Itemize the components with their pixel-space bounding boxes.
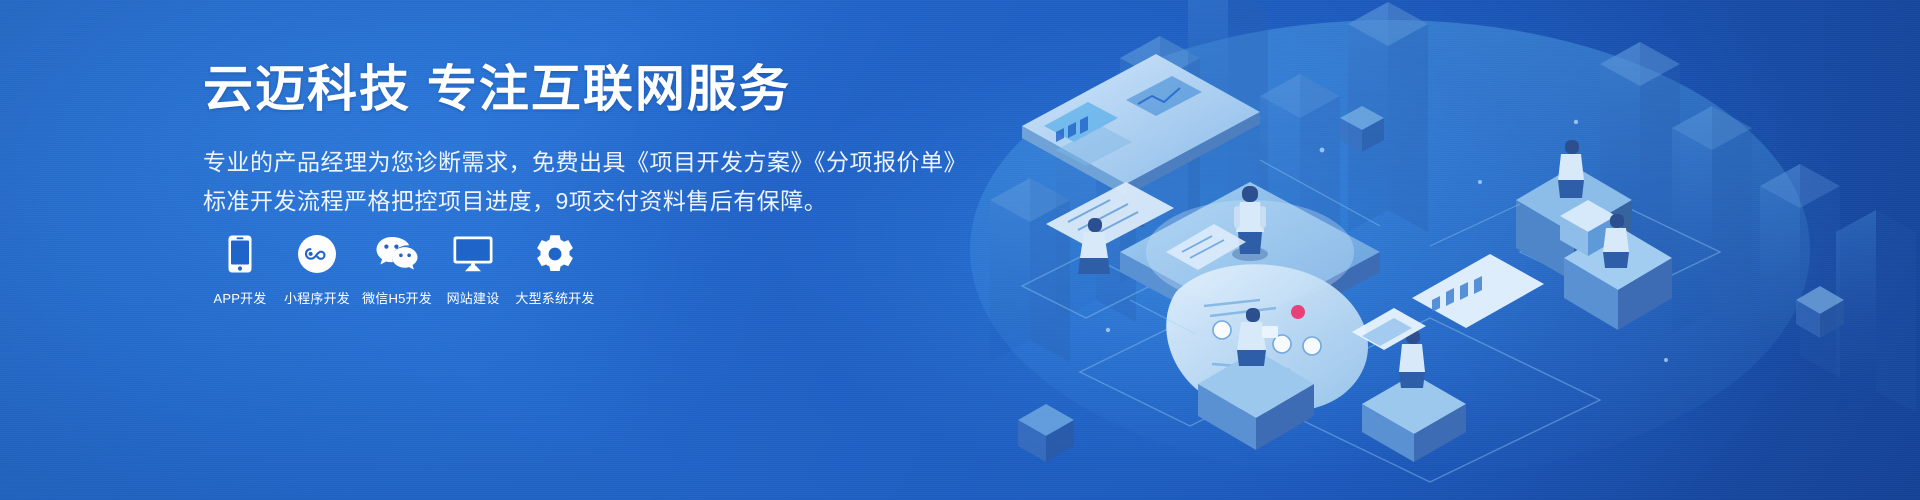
subtitle-line-1: 专业的产品经理为您诊断需求，免费出具《项目开发方案》《分项报价单》: [203, 145, 923, 180]
wechat-icon: [375, 232, 419, 276]
service-item-app[interactable]: APP开发: [203, 232, 277, 307]
service-label: 网站建设: [447, 288, 500, 307]
service-list: APP开发 小程序开发: [203, 232, 601, 307]
subtitle-line-2: 标准开发流程严格把控项目进度，9项交付资料售后有保障。: [203, 184, 923, 219]
monitor-icon: [453, 232, 493, 276]
gear-icon: [535, 232, 575, 276]
highlight-dot: [1291, 305, 1305, 319]
hero-banner: 云迈科技 专注互联网服务 专业的产品经理为您诊断需求，免费出具《项目开发方案》《…: [0, 0, 1920, 500]
service-item-website[interactable]: 网站建设: [437, 232, 509, 307]
service-label: 大型系统开发: [515, 288, 594, 307]
mini-program-icon: [298, 232, 336, 276]
service-label: 微信H5开发: [362, 288, 432, 307]
service-item-wechat-h5[interactable]: 微信H5开发: [357, 232, 437, 307]
service-label: APP开发: [213, 288, 266, 307]
service-item-large-system[interactable]: 大型系统开发: [509, 232, 601, 307]
service-label: 小程序开发: [284, 288, 350, 307]
isometric-data-platform-illustration: [960, 0, 1920, 500]
service-item-mini-program[interactable]: 小程序开发: [277, 232, 357, 307]
hero-copy: 云迈科技 专注互联网服务 专业的产品经理为您诊断需求，免费出具《项目开发方案》《…: [203, 60, 923, 219]
mobile-phone-icon: [228, 232, 252, 276]
page-title: 云迈科技 专注互联网服务: [203, 60, 923, 119]
illustration-container: [960, 0, 1920, 500]
